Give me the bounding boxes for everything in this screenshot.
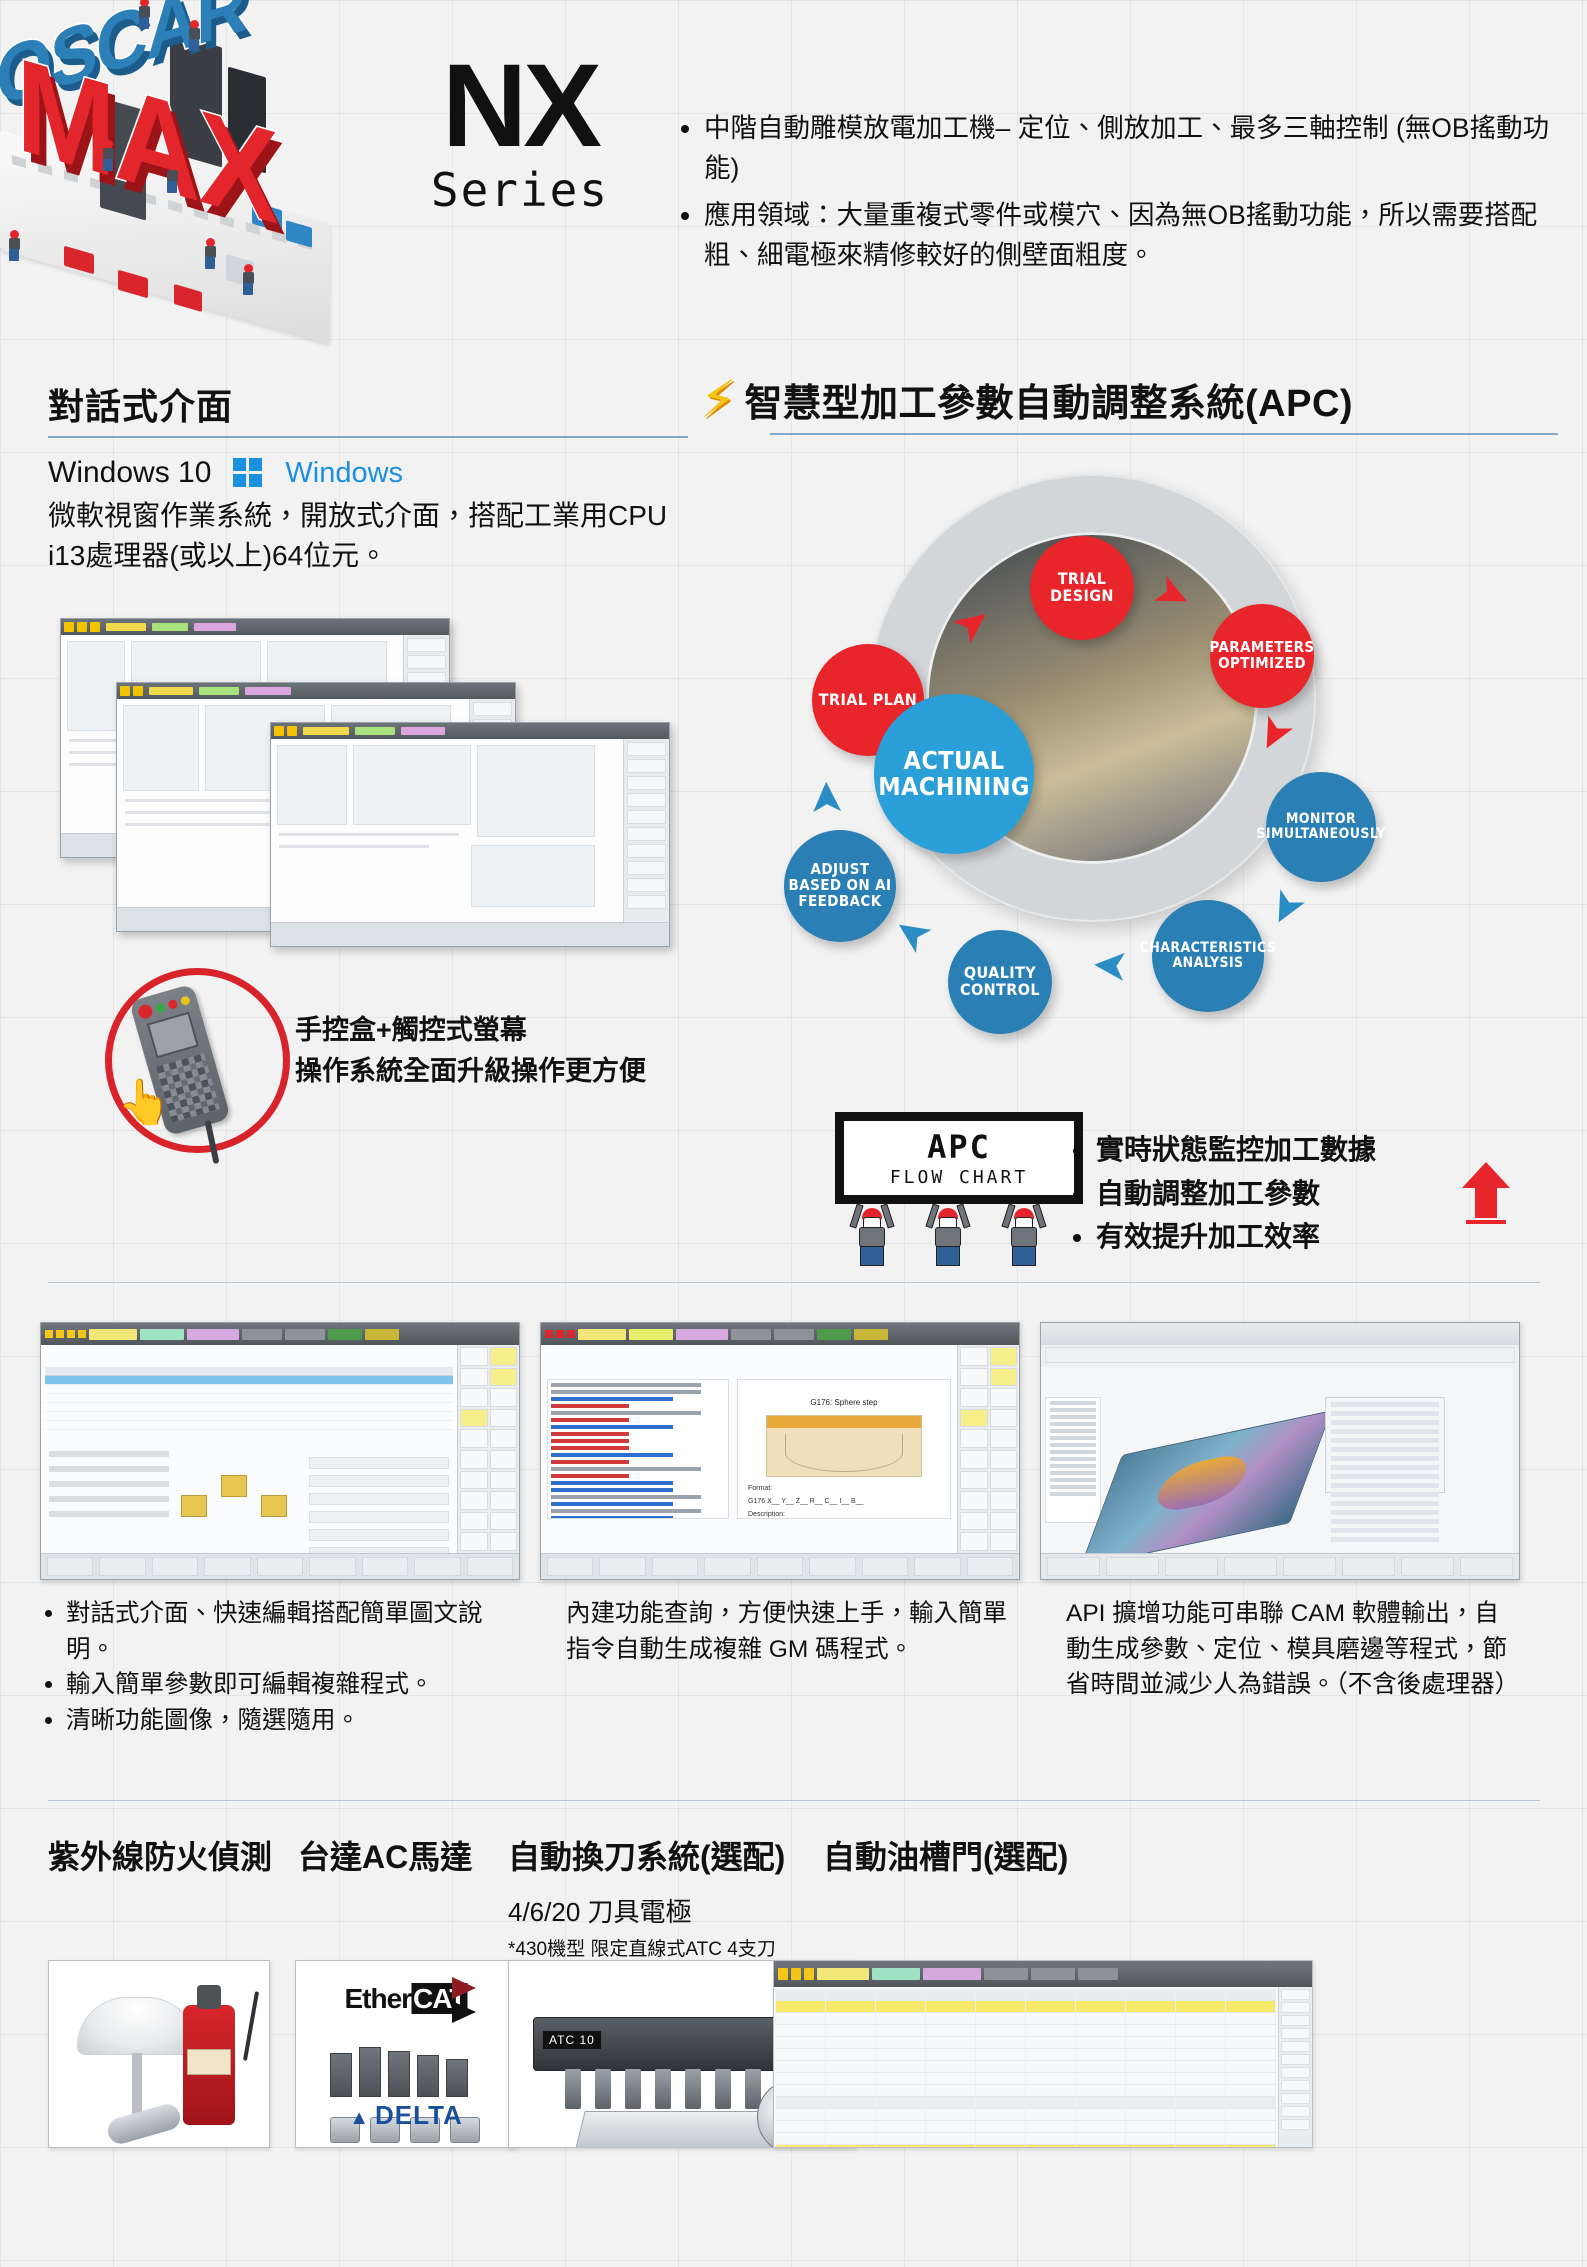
- uv-fire-detector-image: [48, 1960, 270, 2148]
- dialog-description: 微軟視窗作業系統，開放式介面，搭配工業用CPU i13處理器(或以上)64位元。: [48, 496, 688, 576]
- section-rule: [770, 433, 1558, 435]
- options-section: 紫外線防火偵測 台達AC馬達 自動換刀系統(選配) 自動油槽門(選配) 4/6/…: [48, 1832, 1548, 1876]
- dialog-interface-section: 對話式介面 Windows 10 Windows 微軟視窗作業系統，開放式介面，…: [48, 378, 688, 576]
- cycle-arrow-icon: ➤: [1258, 881, 1314, 934]
- pointing-hand-icon: 👆: [117, 1076, 172, 1128]
- nc-code-pane: [547, 1379, 729, 1519]
- oil-tank-door-hmi-image: [773, 1960, 1313, 2148]
- series-title: NX Series: [375, 52, 665, 217]
- atc-label: ATC 10: [543, 2031, 601, 2049]
- feature-column: API 擴增功能可串聯 CAM 軟體輸出，自動生成參數、定位、模具磨邊等程式，節…: [1040, 1322, 1520, 1738]
- section-title-dialog: 對話式介面: [48, 378, 688, 434]
- cycle-arrow-icon: ➤: [804, 779, 849, 817]
- cycle-node-quality-control: QUALITY CONTROL: [948, 930, 1052, 1034]
- atc-note: *430機型 限定直線式ATC 4支刀: [508, 1934, 776, 1961]
- apc-benefit: 實時狀態監控加工數據: [1096, 1128, 1376, 1172]
- cycle-node-monitor-simultaneously: MONITOR SIMULTANEOUSLY: [1266, 772, 1376, 882]
- doc-title: G176: Sphere step: [738, 1398, 950, 1407]
- feature-caption: 內建功能查詢，方便快速上手，輸入簡單指令自動生成複雜 GM 碼程式。: [540, 1596, 1020, 1667]
- series-name: NX: [375, 52, 665, 161]
- pendant-caption: 手控盒+觸控式螢幕 操作系統全面升級操作更方便: [295, 1010, 646, 1091]
- hero-bullet-list: 中階自動雕模放電加工機– 定位、側放加工、最多三軸控制 (無OB搖動功能) 應用…: [678, 108, 1558, 281]
- cycle-node-trial-design: TRIAL DESIGN: [1030, 536, 1134, 640]
- pendant-caption-line2: 操作系統全面升級操作更方便: [295, 1051, 646, 1092]
- option-title-oil-door: 自動油槽門(選配): [823, 1832, 1068, 1878]
- os-label: Windows 10: [48, 456, 211, 490]
- feature-paragraph: 內建功能查詢，方便快速上手，輸入簡單指令自動生成複雜 GM 碼程式。: [566, 1596, 1020, 1667]
- ethercat-logo: EtherCAT: [344, 1983, 467, 2015]
- pendant-illustration: 👆: [105, 968, 295, 1168]
- feature-screenshot-row: 對話式介面、快速編輯搭配簡單圖文說明。 輸入簡單參數即可編輯複雜程式。 清晰功能…: [40, 1322, 1550, 1738]
- feature-column: 對話式介面、快速編輯搭配簡單圖文說明。 輸入簡單參數即可編輯複雜程式。 清晰功能…: [40, 1322, 520, 1738]
- worker-figures: [851, 1200, 1045, 1266]
- doc-format-value: G176 X__ Y__ Z__ R__ C__ I__ B__: [748, 1498, 940, 1505]
- cad-model-preview: [1081, 1413, 1341, 1563]
- sphere-step-diagram: [766, 1415, 922, 1477]
- windows-logo-icon: [233, 458, 263, 488]
- apc-cycle-diagram: TRIAL PLAN TRIAL DESIGN PARAMETERS OPTIM…: [700, 462, 1558, 1102]
- oscarmax-logo: OSCAR MAX: [0, 0, 370, 322]
- feature-paragraph: API 擴增功能可串聯 CAM 軟體輸出，自動生成參數、定位、模具磨邊等程式，節…: [1066, 1596, 1520, 1703]
- option-title-atc: 自動換刀系統(選配): [508, 1832, 785, 1878]
- apc-flow-chart-sign: APC FLOW CHART: [835, 1112, 1095, 1262]
- hero-bullet: 應用領域：大量重複式零件或模穴、因為無OB搖動功能，所以需要搭配粗、細電極來精修…: [704, 195, 1558, 276]
- delta-brand: DELTA: [349, 2100, 463, 2131]
- apc-section: ⚡ 智慧型加工參數自動調整系統(APC): [700, 372, 1558, 435]
- section-divider: [48, 1282, 1540, 1283]
- cycle-arrow-icon: ➤: [885, 905, 940, 962]
- lightning-bolt-icon: ⚡: [700, 374, 737, 426]
- gcode-help-document: G176: Sphere step Format: G176 X__ Y__ Z…: [737, 1379, 951, 1519]
- section-title-apc: 智慧型加工參數自動調整系統(APC): [745, 372, 1354, 427]
- hero-section: OSCAR MAX NX Series 中階自動雕模放電加工機– 定位、側放加工…: [0, 0, 1587, 330]
- cam-settings-panel: [1325, 1397, 1445, 1493]
- windows-wordmark: Windows: [285, 457, 403, 490]
- cycle-node-parameters-optimized: PARAMETERS OPTIMIZED: [1210, 604, 1314, 708]
- hero-bullet: 中階自動雕模放電加工機– 定位、側放加工、最多三軸控制 (無OB搖動功能): [704, 108, 1558, 189]
- option-title-uv-fire: 紫外線防火偵測: [48, 1832, 272, 1878]
- cycle-node-actual-machining: ACTUAL MACHINING: [874, 694, 1034, 854]
- sign-subtitle: FLOW CHART: [890, 1167, 1028, 1188]
- feature-caption: API 擴增功能可串聯 CAM 軟體輸出，自動生成參數、定位、模具磨邊等程式，節…: [1040, 1596, 1520, 1703]
- doc-format-label: Format:: [748, 1485, 940, 1492]
- delta-ethercat-image: EtherCAT DELTA: [295, 1960, 517, 2148]
- apc-benefit: 自動調整加工參數: [1096, 1172, 1376, 1216]
- pendant-caption-line1: 手控盒+觸控式螢幕: [295, 1010, 646, 1051]
- apc-benefit-list: 實時狀態監控加工數據 自動調整加工參數 有效提升加工效率: [1068, 1128, 1376, 1259]
- cam-api-screenshot: [1040, 1322, 1520, 1580]
- gcode-help-screenshot: G176: Sphere step Format: G176 X__ Y__ Z…: [540, 1322, 1020, 1580]
- hmi-window: [270, 722, 670, 947]
- section-divider: [48, 1800, 1540, 1801]
- apc-benefit: 有效提升加工效率: [1096, 1215, 1376, 1259]
- doc-description-label: Description:: [748, 1511, 940, 1518]
- feature-bullet: 清晰功能圖像，隨選隨用。: [66, 1703, 520, 1739]
- cycle-node-characteristics-analysis: CHARACTERISTICS ANALYSIS: [1152, 900, 1264, 1012]
- cycle-node-adjust-ai-feedback: ADJUST BASED ON AI FEEDBACK: [784, 830, 896, 942]
- option-title-delta-motor: 台達AC馬達: [298, 1832, 472, 1878]
- up-arrow-icon: [1462, 1162, 1510, 1224]
- hmi-screenshot-stack: [60, 618, 680, 948]
- feature-bullet: 輸入簡單參數即可編輯複雜程式。: [66, 1667, 520, 1703]
- feature-column: G176: Sphere step Format: G176 X__ Y__ Z…: [540, 1322, 1020, 1738]
- feature-bullet: 對話式介面、快速編輯搭配簡單圖文說明。: [66, 1596, 520, 1667]
- cycle-arrow-icon: ➤: [1091, 943, 1131, 989]
- section-rule: [48, 436, 688, 438]
- dialog-ui-screenshot: [40, 1322, 520, 1580]
- sign-title: APC: [927, 1128, 991, 1166]
- feature-caption: 對話式介面、快速編輯搭配簡單圖文說明。 輸入簡單參數即可編輯複雜程式。 清晰功能…: [40, 1596, 520, 1738]
- series-suffix: Series: [375, 163, 665, 217]
- atc-subtitle: 4/6/20 刀具電極: [508, 1892, 692, 1929]
